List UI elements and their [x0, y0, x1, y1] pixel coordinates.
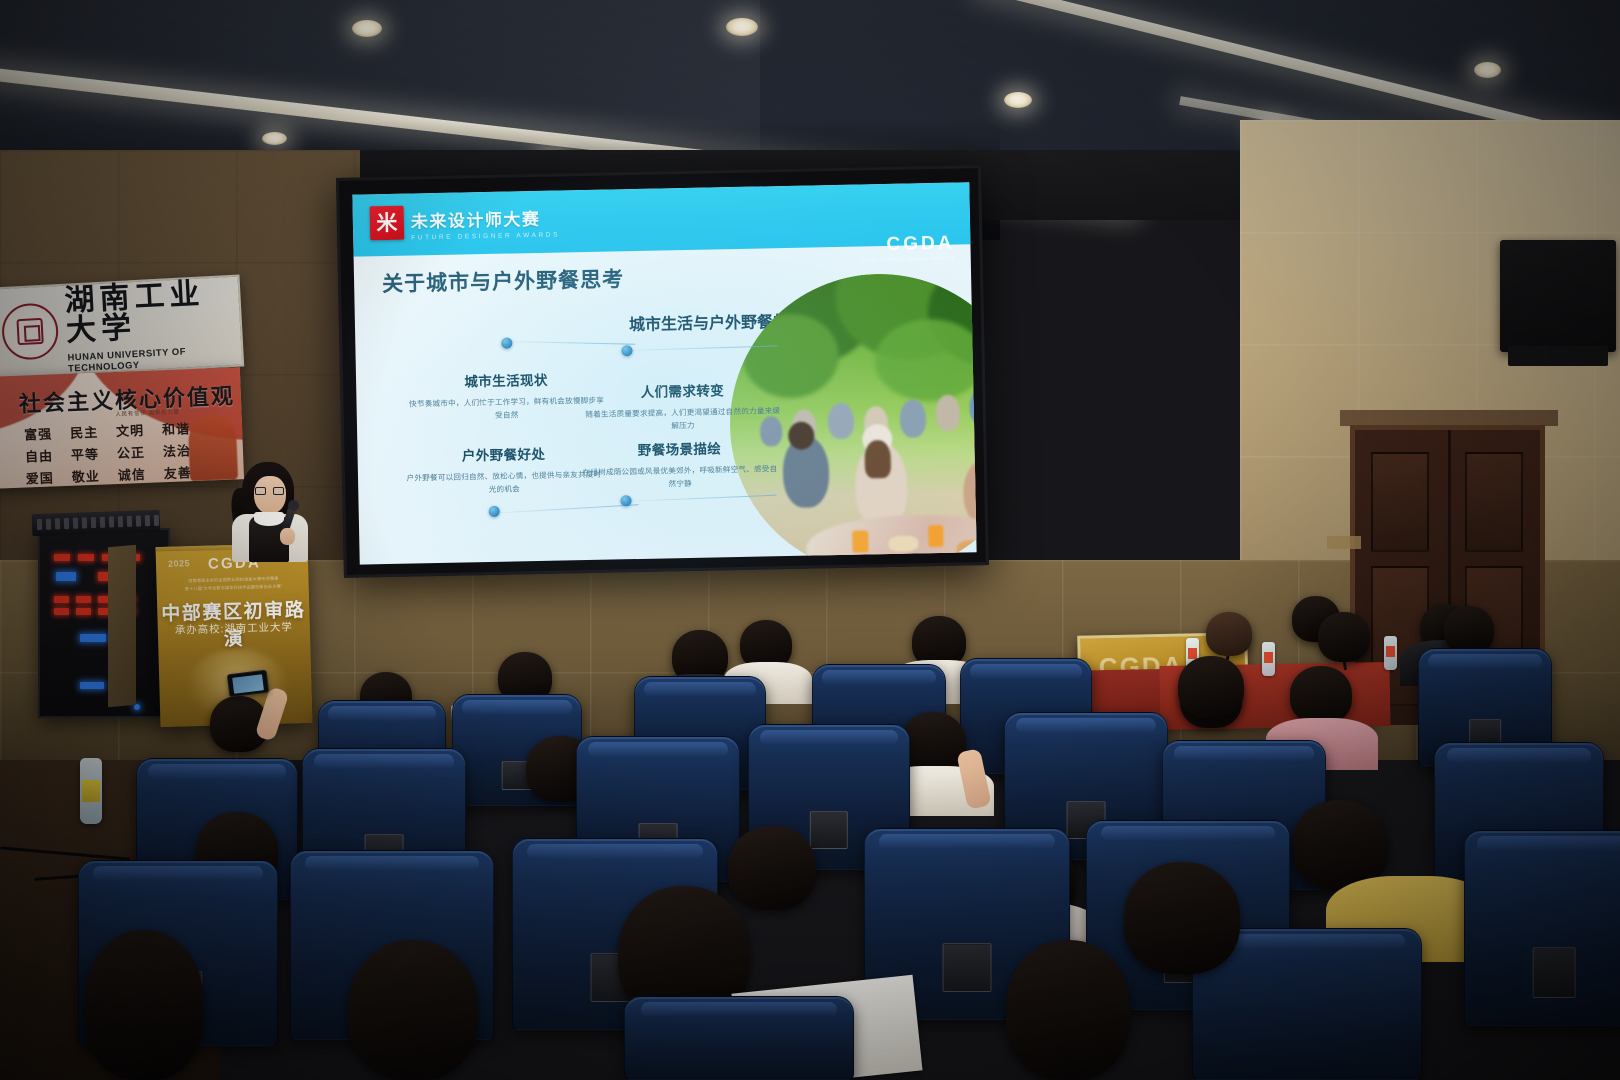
audience-head — [1444, 606, 1494, 654]
brand-name-cn: 未来设计师大赛 — [411, 205, 560, 233]
connector-line — [505, 341, 635, 345]
projection-screen: 米 未来设计师大赛 FUTURE DESIGNER AWARDS CGDA CH… — [336, 165, 989, 578]
core-value: 法治 — [157, 440, 198, 461]
judge-head — [1206, 612, 1252, 656]
door-panel — [1371, 452, 1429, 552]
presenter-speaker — [228, 462, 312, 560]
university-name-banner: 湖南工业大学 HUNAN UNIVERSITY OF TECHNOLOGY — [0, 275, 244, 380]
av-equipment-rack[interactable] — [38, 528, 170, 718]
audio-mixer[interactable] — [32, 510, 161, 536]
core-value: 公正 — [111, 442, 152, 463]
university-seal-icon — [1, 302, 60, 361]
door-panel — [1465, 452, 1523, 552]
core-value: 诚信 — [111, 464, 152, 485]
door-frame — [1340, 410, 1558, 426]
downlight — [1004, 92, 1032, 108]
core-value: 和谐 — [156, 418, 197, 439]
wall-sign-plate — [1327, 536, 1361, 549]
smartphone-recording[interactable] — [227, 670, 270, 698]
downlight — [726, 18, 758, 36]
content-block-1: 城市生活现状 快节奏城市中，人们忙于工作学习，鲜有机会放慢脚步享受自然 — [408, 368, 605, 424]
downlight — [262, 132, 287, 145]
seat-number-plate — [1533, 947, 1576, 997]
content-block-4: 野餐场景描绘 在绿树成荫公园或风景优美郊外，呼吸新鲜空气、感受自然宁静 — [581, 436, 778, 492]
core-value: 友善 — [157, 462, 198, 483]
block-body: 在绿树成荫公园或风景优美郊外，呼吸新鲜空气、感受自然宁静 — [582, 463, 778, 492]
logo-glyph: 米 — [376, 212, 397, 233]
downlight — [352, 20, 382, 37]
timeline-dot — [489, 506, 500, 517]
rack-door-panel[interactable] — [108, 545, 136, 707]
timeline-dot — [501, 337, 512, 348]
podium-year: 2025 — [168, 558, 190, 569]
block-heading: 人们需求转变 — [584, 378, 780, 402]
cgda-watermark-text: CGDA — [859, 233, 954, 257]
core-value: 平等 — [65, 443, 106, 464]
floor-water-bottle — [80, 758, 102, 824]
core-values-grid: 富强 民主 文明 和谐 自由 平等 公正 法治 爱国 敬业 诚信 友善 — [18, 418, 198, 489]
auditorium-scene: 米 未来设计师大赛 FUTURE DESIGNER AWARDS CGDA CH… — [0, 0, 1620, 1080]
water-bottle — [1262, 642, 1275, 676]
presentation-slide: 米 未来设计师大赛 FUTURE DESIGNER AWARDS CGDA CH… — [352, 182, 976, 564]
audience-head — [84, 930, 204, 1080]
presenter-collar — [254, 512, 284, 526]
auditorium-seat[interactable] — [624, 996, 854, 1080]
audience-head — [1124, 862, 1240, 974]
core-values-row: 自由 平等 公正 法治 — [19, 440, 198, 466]
seat-number-plate — [943, 943, 992, 992]
cgda-watermark-sub: CHINA GRAPHIC DESIGN AWARDS — [860, 256, 955, 265]
presenter-hand — [280, 528, 295, 545]
block-heading: 城市生活现状 — [408, 368, 604, 392]
core-value: 民主 — [64, 421, 105, 442]
block-body: 随着生活质量要求提高，人们更渴望通过自然的力量来缓解压力 — [585, 405, 781, 434]
block-body: 户外野餐可以回归自然、放松心情，也提供与亲友共度时光的机会 — [406, 469, 602, 498]
audience-head — [1318, 612, 1370, 662]
slide-title: 关于城市与户外野餐思考 — [382, 263, 625, 298]
audience-head — [1006, 940, 1130, 1080]
downlight — [1474, 62, 1501, 78]
core-value: 爱国 — [19, 467, 60, 488]
timeline-dot — [621, 345, 632, 356]
core-values-row: 富强 民主 文明 和谐 — [18, 418, 197, 444]
wall-speaker — [1500, 240, 1616, 352]
core-values-banner: 社会主义核心价值观 人民有信仰 国家有力量 富强 民主 文明 和谐 自由 平等 … — [0, 367, 244, 489]
audience-head — [1178, 656, 1244, 718]
future-designer-logo-icon: 米 — [370, 206, 405, 241]
connector-line — [493, 504, 639, 514]
core-value: 文明 — [110, 420, 151, 441]
content-block-3: 户外野餐好处 户外野餐可以回归自然、放松心情，也提供与亲友共度时光的机会 — [405, 442, 602, 498]
block-heading: 户外野餐好处 — [405, 442, 601, 466]
core-value: 富强 — [18, 423, 59, 444]
presenter-face — [254, 476, 286, 514]
audience-head — [728, 826, 816, 910]
presenter-glasses-icon — [255, 487, 284, 495]
core-value: 敬业 — [65, 465, 106, 486]
audience-head — [1290, 666, 1352, 724]
block-heading: 野餐场景描绘 — [581, 436, 777, 460]
core-value: 自由 — [19, 445, 60, 466]
podium-fine-print: 由教育部主办的全国职业院校技能大赛专项赛事 第十八届"大学生数字媒体科技作品暨创… — [165, 574, 301, 593]
content-block-2: 人们需求转变 随着生活质量要求提高，人们更渴望通过自然的力量来缓解压力 — [584, 378, 781, 434]
brand-lockup: 未来设计师大赛 FUTURE DESIGNER AWARDS — [411, 205, 560, 242]
seat-number-plate — [810, 811, 848, 848]
auditorium-seat[interactable] — [1464, 830, 1620, 1026]
university-name-cn: 湖南工业大学 — [64, 277, 241, 346]
audience-head — [348, 940, 478, 1080]
cgda-watermark: CGDA CHINA GRAPHIC DESIGN AWARDS — [859, 233, 954, 265]
water-bottle — [1384, 636, 1397, 670]
block-body: 快节奏城市中，人们忙于工作学习，鲜有机会放慢脚步享受自然 — [408, 395, 604, 424]
